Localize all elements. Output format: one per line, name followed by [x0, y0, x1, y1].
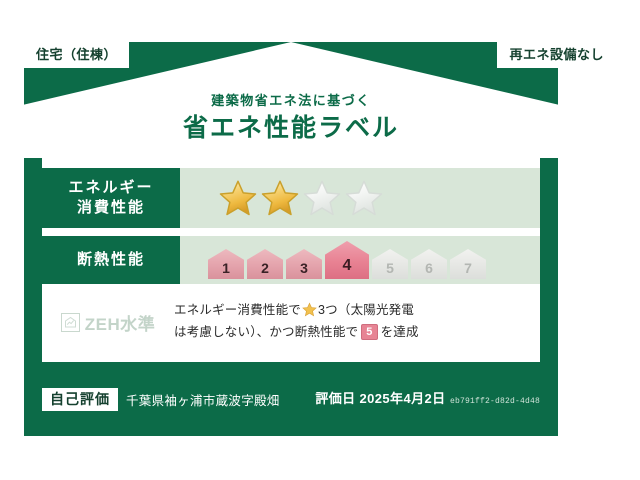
energy-star-rating	[218, 178, 384, 218]
energy-performance-label-card: 建築物省エネ法に基づく 省エネ性能ラベル エネルギー 消費性能 断熱性能 123…	[24, 42, 558, 436]
zeh-desc-grade-badge: 5	[361, 324, 377, 340]
insulation-grade-5: 5	[372, 249, 408, 279]
zeh-description: エネルギー消費性能で3つ（太陽光発電は考慮しない）、かつ断熱性能で5を達成	[174, 300, 540, 344]
zeh-standard-section: ZEH水準 エネルギー消費性能で3つ（太陽光発電は考慮しない）、かつ断熱性能で5…	[42, 284, 540, 360]
insulation-grade-1: 1	[208, 249, 244, 279]
star-icon-empty	[344, 178, 384, 218]
zeh-mark-label: ZEH水準	[85, 310, 156, 335]
insulation-grade-2: 2	[247, 249, 283, 279]
star-icon-filled	[260, 178, 300, 218]
row-energy-value	[180, 168, 540, 228]
evaluation-id: eb791ff2-d82d-4d48	[450, 397, 540, 406]
row-insulation-label: 断熱性能	[42, 236, 180, 284]
tag-building-type: 住宅（住棟）	[24, 42, 129, 68]
tag-renewable-equipment: 再エネ設備なし	[497, 42, 616, 68]
row-insulation-label-text: 断熱性能	[77, 250, 145, 270]
star-icon-empty	[302, 178, 342, 218]
insulation-grade-4: 4	[325, 241, 369, 279]
row-insulation-value: 1234567	[180, 236, 540, 284]
row-energy-label-line1: エネルギー	[68, 178, 153, 198]
star-icon-filled	[218, 178, 258, 218]
evaluation-date: 評価日 2025年4月2日	[315, 391, 445, 406]
property-address: 千葉県袖ヶ浦市蔵波字殿畑	[126, 390, 280, 409]
row-energy-consumption: エネルギー 消費性能	[42, 168, 540, 228]
insulation-grade-6: 6	[411, 249, 447, 279]
zeh-house-icon	[61, 313, 80, 332]
zeh-desc-part3: を達成	[381, 325, 419, 339]
row-energy-label: エネルギー 消費性能	[42, 168, 180, 228]
row-energy-label-line2: 消費性能	[77, 198, 145, 218]
insulation-grade-7: 7	[450, 249, 486, 279]
label-footer: 自己評価 千葉県袖ヶ浦市蔵波字殿畑 評価日 2025年4月2日 eb791ff2…	[42, 378, 540, 420]
inline-star-icon	[302, 302, 317, 317]
footer-right-block: 評価日 2025年4月2日 eb791ff2-d82d-4d48	[315, 390, 540, 408]
insulation-grade-3: 3	[286, 249, 322, 279]
zeh-desc-part1: エネルギー消費性能で	[174, 303, 301, 317]
self-evaluation-badge: 自己評価	[42, 388, 118, 411]
insulation-grade-scale: 1234567	[208, 241, 486, 279]
zeh-desc-part2: は考慮しない）、かつ断熱性能で	[174, 325, 358, 339]
zeh-mark: ZEH水準	[42, 310, 174, 335]
zeh-desc-star-count: 3つ（太陽光発電	[318, 303, 414, 317]
row-insulation: 断熱性能 1234567	[42, 236, 540, 284]
metrics-container: エネルギー 消費性能 断熱性能 1234567	[42, 168, 540, 292]
